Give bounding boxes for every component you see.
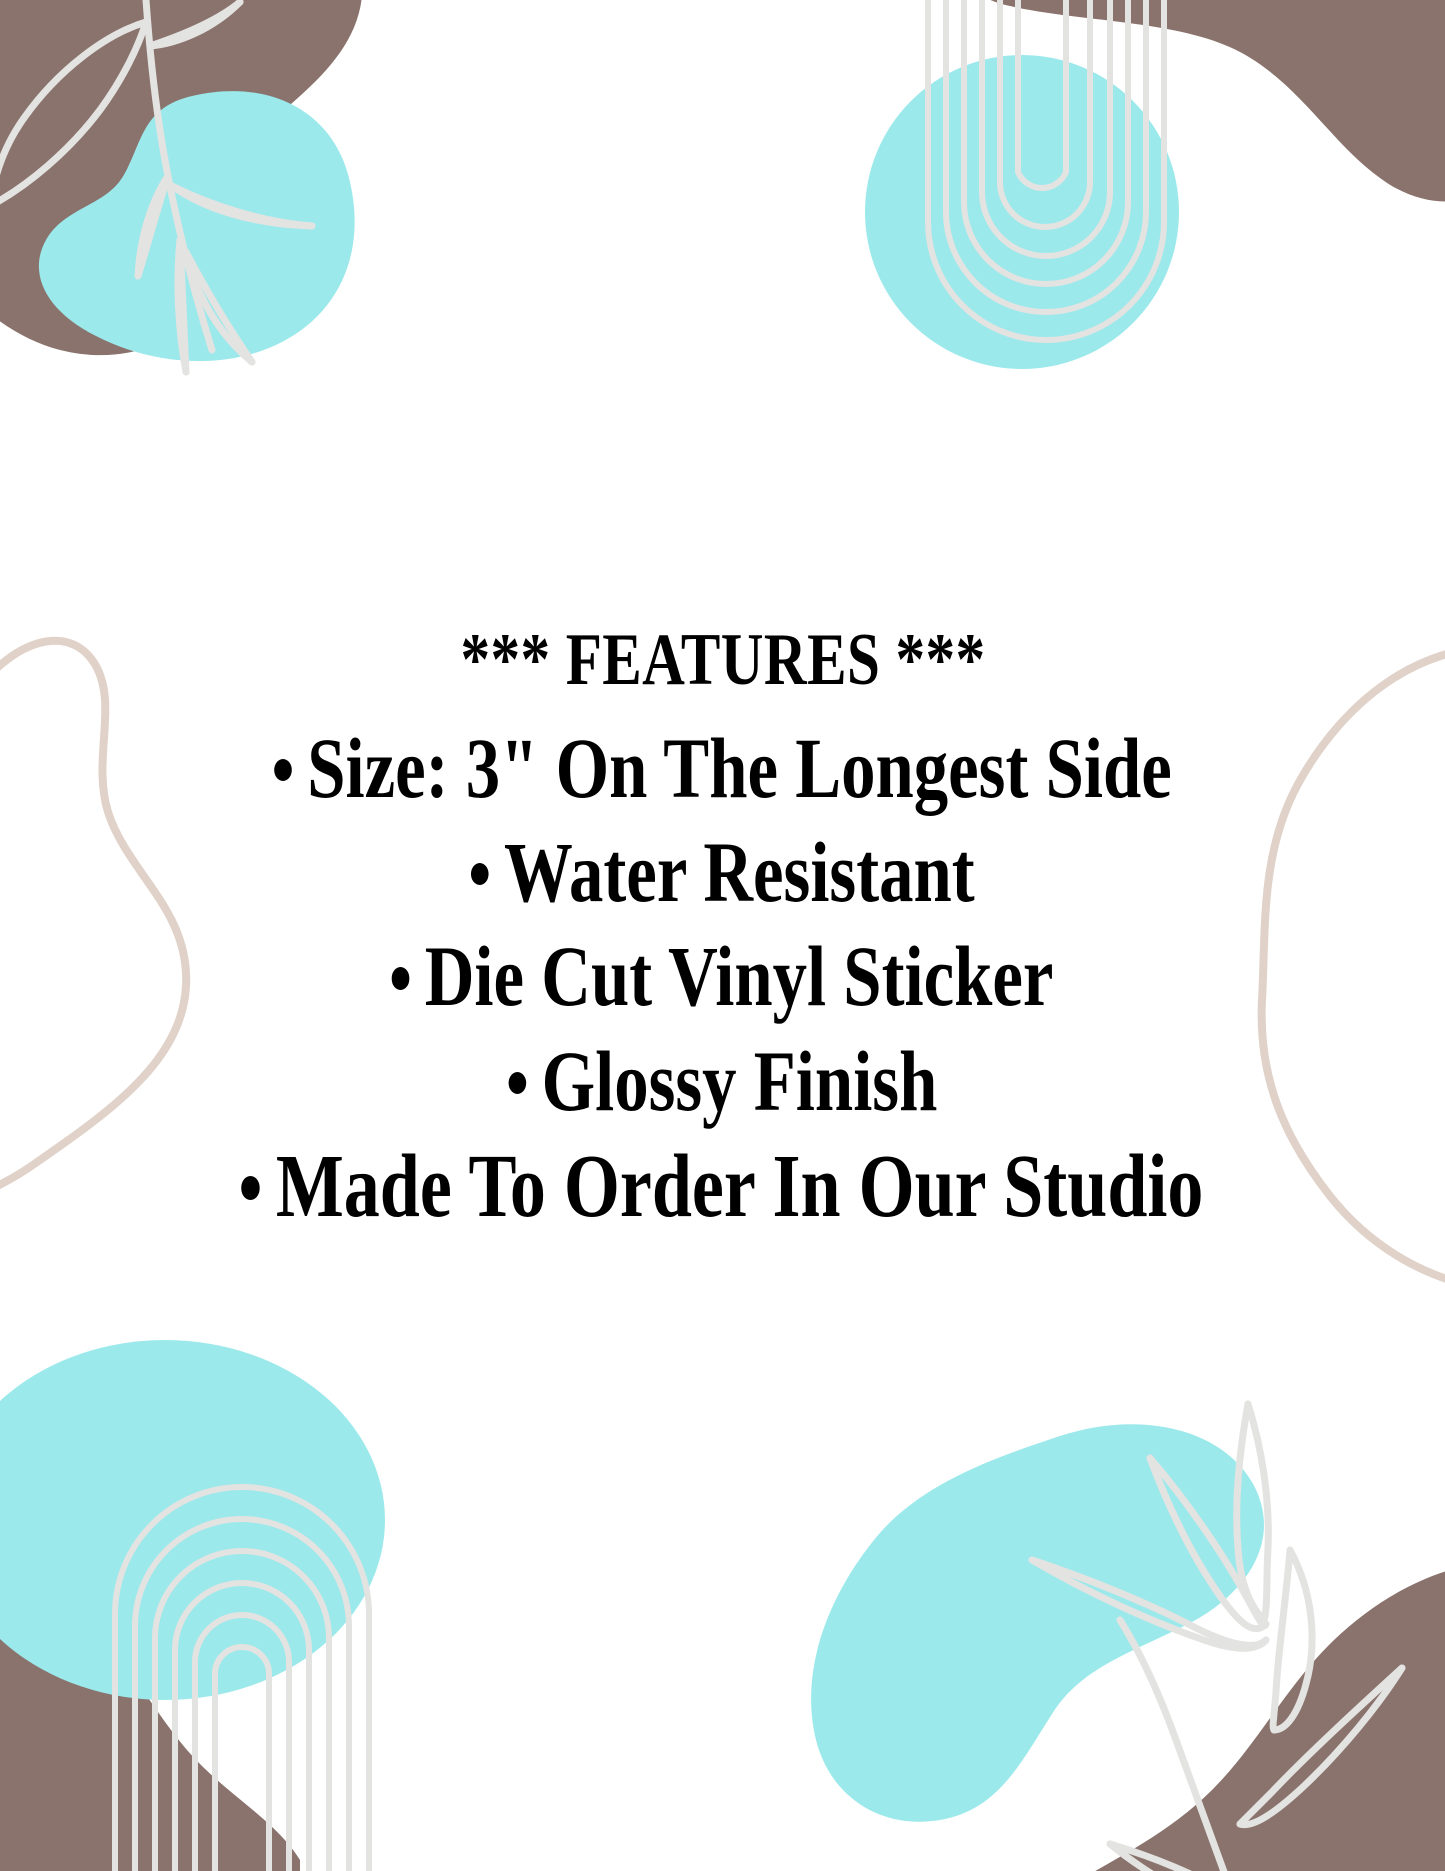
- bullet-icon: [508, 1072, 526, 1094]
- list-item: Water Resistant: [43, 827, 1403, 917]
- page-title: *** FEATURES ***: [179, 623, 1267, 697]
- features-list: Size: 3" On The Longest Side Water Resis…: [43, 723, 1403, 1235]
- list-item: Die Cut Vinyl Sticker: [43, 931, 1403, 1021]
- list-item: Glossy Finish: [43, 1036, 1403, 1126]
- bullet-icon: [274, 759, 292, 781]
- list-item-label: Glossy Finish: [541, 1033, 937, 1129]
- bullet-icon: [241, 1176, 260, 1199]
- list-item-label: Water Resistant: [504, 824, 975, 920]
- features-poster: *** FEATURES *** Size: 3" On The Longest…: [0, 0, 1445, 1871]
- list-item-label: Die Cut Vinyl Sticker: [425, 928, 1054, 1024]
- list-item-label: Made To Order In Our Studio: [276, 1137, 1204, 1236]
- features-content: *** FEATURES *** Size: 3" On The Longest…: [0, 0, 1445, 1871]
- list-item-label: Size: 3" On The Longest Side: [307, 720, 1172, 816]
- features-block: *** FEATURES *** Size: 3" On The Longest…: [43, 623, 1403, 1249]
- list-item: Made To Order In Our Studio: [43, 1140, 1403, 1235]
- bullet-icon: [471, 863, 489, 885]
- bullet-icon: [392, 967, 410, 989]
- list-item: Size: 3" On The Longest Side: [43, 723, 1403, 813]
